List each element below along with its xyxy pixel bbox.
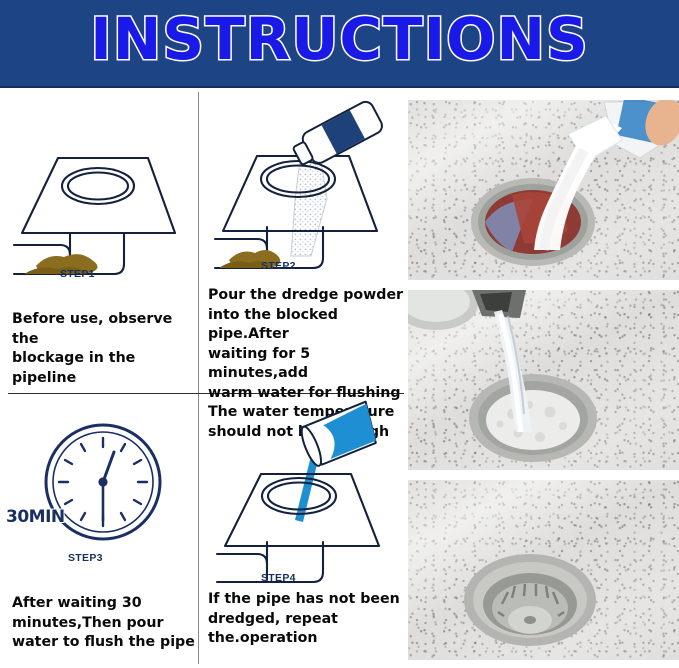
water-cup — [298, 402, 381, 468]
clock-center-pin — [98, 477, 107, 486]
step3-caption: After waiting 30 minutes,Then pour water… — [12, 594, 198, 653]
step2-label: STEP2 — [261, 260, 296, 272]
step4-diagram — [199, 394, 404, 589]
instructions-body: STEP1 Before use, observe the blockage i… — [0, 88, 679, 668]
step-cell-4: STEP4 If the pipe has not been dredged, … — [199, 394, 404, 668]
foam — [486, 390, 580, 450]
step4-label: STEP4 — [261, 572, 296, 584]
header-banner: INSTRUCTIONS — [0, 0, 679, 88]
timer-label: 30MIN — [6, 507, 65, 527]
step3-label: STEP3 — [68, 552, 103, 564]
photo-water-flushing-drain — [408, 290, 679, 470]
step4-caption: If the pipe has not been dredged, repeat… — [208, 590, 404, 649]
photo-powder-into-drain — [408, 100, 679, 280]
step1-label: STEP1 — [60, 268, 95, 280]
step-cell-1: STEP1 Before use, observe the blockage i… — [0, 88, 198, 393]
photo-clean-drain — [408, 480, 679, 660]
photo-column — [408, 88, 679, 668]
step-cell-3: 30MIN STEP3 After waiting 30 minutes,The… — [0, 394, 198, 668]
page-title: INSTRUCTIONS — [0, 6, 679, 72]
steps-grid: STEP1 Before use, observe the blockage i… — [0, 88, 404, 668]
powder-bottle — [289, 99, 384, 171]
faucet — [408, 290, 526, 330]
step2-diagram — [199, 88, 404, 283]
step-cell-2: STEP2 Pour the dredge powder into the bl… — [199, 88, 404, 393]
step1-caption: Before use, observe the blockage in the … — [12, 310, 202, 388]
step1-diagram — [0, 88, 198, 298]
